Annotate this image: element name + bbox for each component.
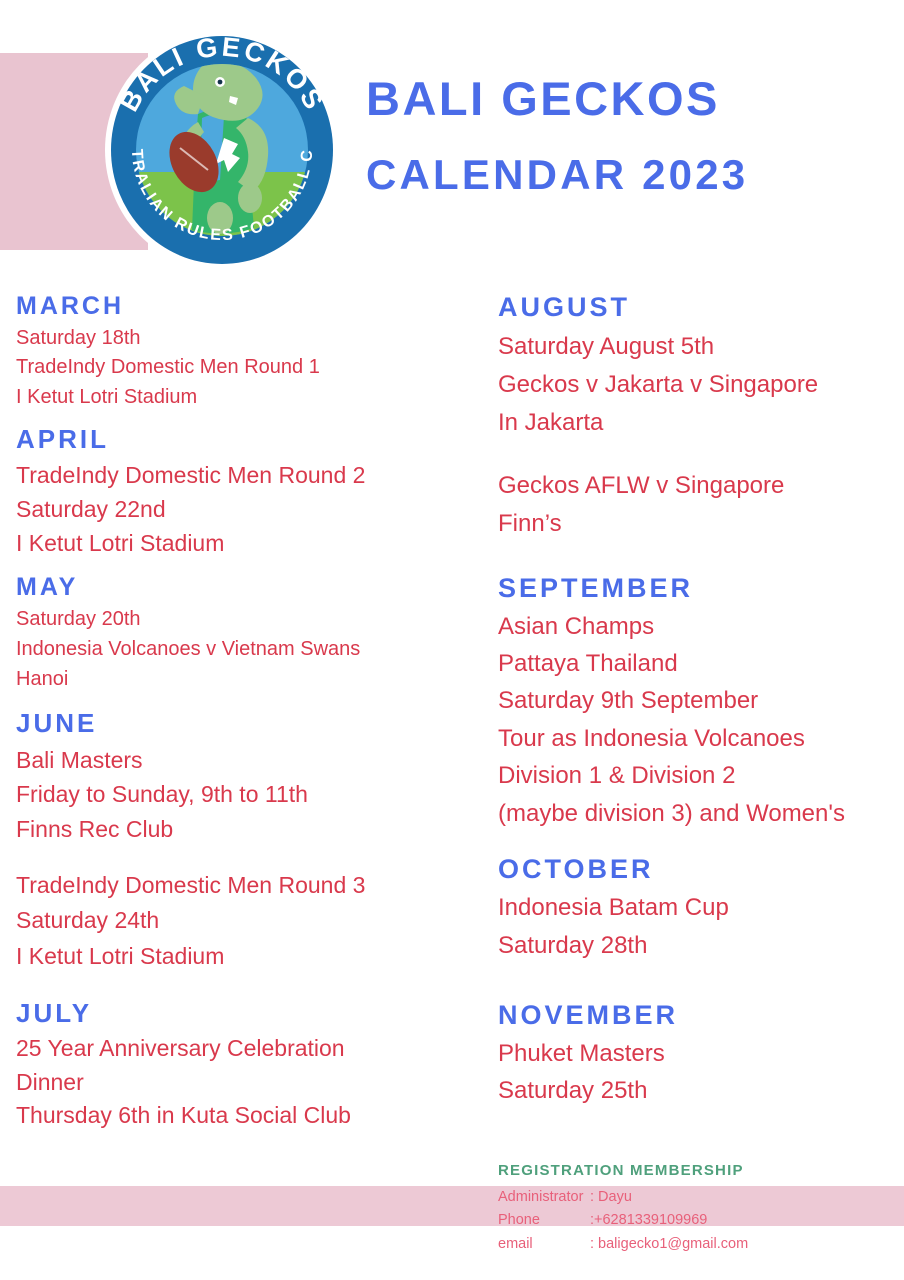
event-line: Geckos v Jakarta v Singapore: [498, 366, 898, 404]
bali-geckos-logo: BALI GECKOS AUSTRALIAN RULES FOOTBALL CL…: [98, 22, 346, 274]
event-line: Phuket Masters: [498, 1035, 898, 1072]
event-line: Thursday 6th in Kuta Social Club: [16, 1099, 476, 1133]
event-line: I Ketut Lotri Stadium: [16, 383, 476, 412]
event-line: TradeIndy Domestic Men Round 2: [16, 459, 476, 493]
calendar-poster: BALI GECKOS AUSTRALIAN RULES FOOTBALL CL…: [0, 0, 904, 1280]
registration-row-phone: Phone :+6281339109969: [498, 1209, 898, 1232]
event-line: Geckos AFLW v Singapore: [498, 467, 898, 505]
administrator-label: Administrator: [498, 1186, 590, 1209]
event-line: Indonesia Volcanoes v Vietnam Swans: [16, 634, 476, 664]
event-line: Saturday 24th: [16, 903, 476, 938]
event-line: Saturday 20th: [16, 604, 476, 634]
event-line: Finns Rec Club: [16, 812, 476, 847]
registration-row-administrator: Administrator : Dayu: [498, 1186, 898, 1209]
event-line: (maybe division 3) and Women's: [498, 795, 898, 832]
month-section-march: MARCH Saturday 18th TradeIndy Domestic M…: [16, 292, 476, 412]
event-line: Saturday August 5th: [498, 328, 898, 366]
event-line: Saturday 25th: [498, 1072, 898, 1109]
event-line: Saturday 9th September: [498, 682, 898, 719]
event-line: In Jakarta: [498, 404, 898, 442]
event-line: Pattaya Thailand: [498, 645, 898, 682]
month-section-june-extra: TradeIndy Domestic Men Round 3 Saturday …: [16, 846, 476, 974]
month-heading-november: NOVEMBER: [498, 1000, 898, 1031]
event-line: Friday to Sunday, 9th to 11th: [16, 777, 476, 812]
month-heading-april: APRIL: [16, 424, 476, 455]
calendar-column-right: AUGUST Saturday August 5th Geckos v Jaka…: [498, 292, 898, 1110]
email-label: email: [498, 1233, 590, 1256]
event-line: Indonesia Batam Cup: [498, 889, 898, 926]
event-line: Saturday 28th: [498, 927, 898, 964]
email-value[interactable]: : baligecko1@gmail.com: [590, 1233, 748, 1256]
calendar-column-left: MARCH Saturday 18th TradeIndy Domestic M…: [16, 292, 476, 1133]
event-line: Bali Masters: [16, 743, 476, 778]
phone-value[interactable]: :+6281339109969: [590, 1209, 707, 1232]
administrator-value: : Dayu: [590, 1186, 632, 1209]
month-heading-october: OCTOBER: [498, 854, 898, 885]
event-line: I Ketut Lotri Stadium: [16, 527, 476, 561]
month-heading-march: MARCH: [16, 292, 476, 321]
month-heading-july: JULY: [16, 998, 476, 1029]
month-heading-may: MAY: [16, 573, 476, 602]
month-section-may: MAY Saturday 20th Indonesia Volcanoes v …: [16, 561, 476, 695]
month-section-september: SEPTEMBER Asian Champs Pattaya Thailand …: [498, 543, 898, 833]
registration-row-email: email : baligecko1@gmail.com: [498, 1233, 898, 1256]
event-line: TradeIndy Domestic Men Round 1: [16, 353, 476, 382]
month-section-october: OCTOBER Indonesia Batam Cup Saturday 28t…: [498, 832, 898, 964]
month-section-november: NOVEMBER Phuket Masters Saturday 25th: [498, 964, 898, 1110]
event-line: 25 Year Anniversary Celebration: [16, 1032, 476, 1066]
event-line: Hanoi: [16, 664, 476, 694]
poster-title-line-2: CALENDAR 2023: [366, 153, 886, 197]
event-line: I Ketut Lotri Stadium: [16, 939, 476, 974]
poster-title-line-1: BALI GECKOS: [366, 74, 886, 123]
event-line: Division 1 & Division 2: [498, 757, 898, 794]
month-section-august: AUGUST Saturday August 5th Geckos v Jaka…: [498, 292, 898, 442]
poster-title: BALI GECKOS CALENDAR 2023: [366, 74, 886, 197]
month-heading-september: SEPTEMBER: [498, 573, 898, 604]
event-line: Dinner: [16, 1066, 476, 1100]
event-line: Saturday 22nd: [16, 493, 476, 527]
event-line: Finn’s: [498, 505, 898, 543]
event-line: Saturday 18th: [16, 324, 476, 353]
registration-membership-block: REGISTRATION MEMBERSHIP Administrator : …: [498, 1162, 898, 1256]
event-line: Tour as Indonesia Volcanoes: [498, 720, 898, 757]
poster-header: BALI GECKOS AUSTRALIAN RULES FOOTBALL CL…: [0, 0, 904, 280]
event-line: Asian Champs: [498, 608, 898, 645]
club-crest-icon: BALI GECKOS AUSTRALIAN RULES FOOTBALL CL…: [98, 22, 346, 274]
month-heading-august: AUGUST: [498, 292, 898, 323]
month-section-july: JULY 25 Year Anniversary Celebration Din…: [16, 974, 476, 1133]
registration-title: REGISTRATION MEMBERSHIP: [498, 1162, 898, 1179]
month-section-august-extra: Geckos AFLW v Singapore Finn’s: [498, 442, 898, 543]
month-section-april: APRIL TradeIndy Domestic Men Round 2 Sat…: [16, 412, 476, 560]
phone-label: Phone: [498, 1209, 590, 1232]
month-section-june: JUNE Bali Masters Friday to Sunday, 9th …: [16, 695, 476, 847]
month-heading-june: JUNE: [16, 708, 476, 739]
event-line: TradeIndy Domestic Men Round 3: [16, 868, 476, 903]
